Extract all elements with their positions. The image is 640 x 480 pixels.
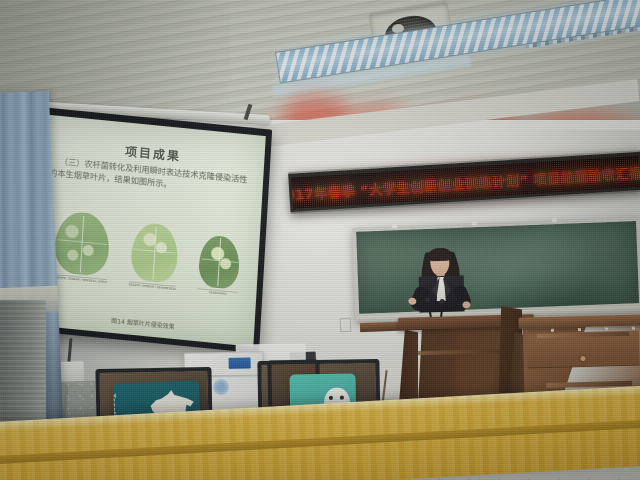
- screen-vignette: [31, 114, 266, 346]
- chalkboard-clip: [472, 221, 477, 225]
- lecture-hall-photo: 项目成果 （三）农杆菌转化及利用瞬时表达技术克隆侵染活性的本生烟草叶片，结果如图…: [0, 0, 640, 480]
- refrigerator-label: [229, 358, 251, 369]
- projection-screen: 项目成果 （三）农杆菌转化及利用瞬时表达技术克隆侵染活性的本生烟草叶片，结果如图…: [24, 107, 272, 354]
- teacher-desk-lock-icon[interactable]: [580, 356, 585, 361]
- chalkboard-surface: [356, 221, 639, 314]
- chalk-smears: [356, 221, 639, 314]
- chalkboard-clip: [392, 224, 397, 228]
- refrigerator-logo: [213, 379, 229, 395]
- light-switch-plate[interactable]: [340, 318, 352, 333]
- character-eye: [340, 396, 344, 400]
- slide-surface: 项目成果 （三）农杆菌转化及利用瞬时表达技术克隆侵染活性的本生烟草叶片，结果如图…: [31, 114, 266, 346]
- chalkboard-clip: [552, 218, 557, 222]
- character-eye: [329, 396, 333, 400]
- presenter-hand-right: [462, 301, 470, 308]
- chalkboard: [352, 217, 640, 322]
